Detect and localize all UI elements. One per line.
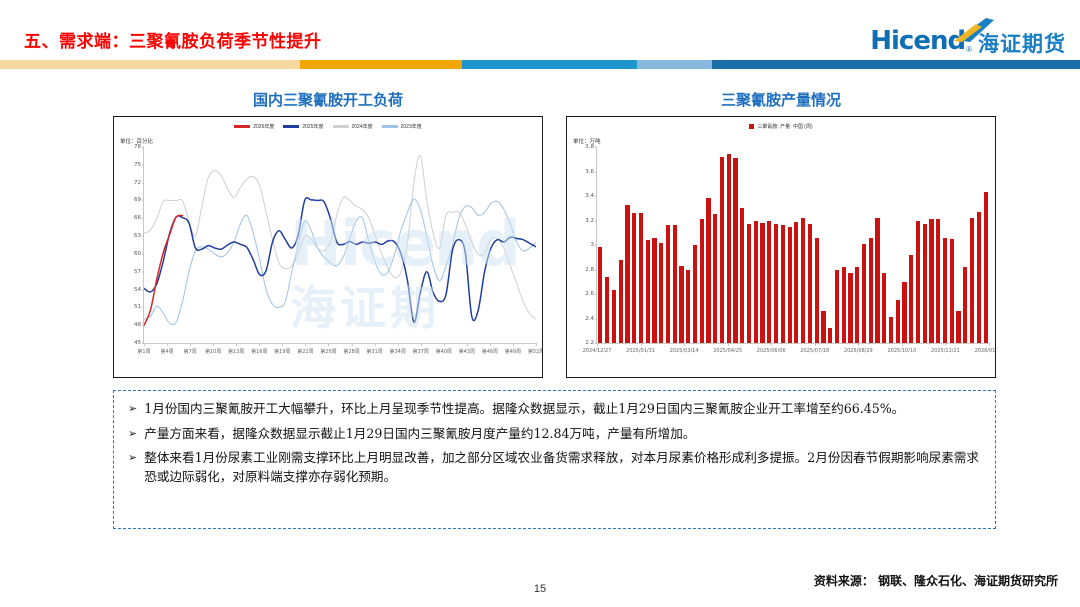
left-ytick bbox=[142, 253, 144, 254]
bar-column bbox=[740, 208, 744, 343]
legend-item-0[interactable]: 2026年度 bbox=[234, 123, 274, 130]
left-ytick-label: 69 bbox=[134, 197, 141, 203]
right-ytick-label: 3.4 bbox=[585, 193, 594, 199]
left-ytick-label: 54 bbox=[134, 287, 141, 293]
right-ytick-label: 2.8 bbox=[585, 267, 594, 273]
left-ytick bbox=[142, 289, 144, 290]
right-xtick-label: 2025/07/18 bbox=[800, 348, 829, 354]
right-ytick-label: 3.8 bbox=[585, 144, 594, 150]
right-xtick-label: 2025/06/06 bbox=[757, 348, 786, 354]
right-xtick bbox=[641, 343, 642, 346]
left-xtick bbox=[282, 343, 283, 346]
right-xtick bbox=[815, 343, 816, 346]
left-xtick-label: 第16周 bbox=[251, 348, 267, 355]
left-xtick bbox=[375, 343, 376, 346]
left-ytick-label: 72 bbox=[134, 180, 141, 186]
bar-column bbox=[720, 157, 724, 343]
left-xtick bbox=[536, 343, 537, 346]
x-axis-right bbox=[596, 343, 989, 344]
left-ytick-label: 63 bbox=[134, 233, 141, 239]
left-ytick bbox=[142, 147, 144, 148]
bar-column bbox=[767, 221, 771, 344]
bullet-text: 1月份国内三聚氰胺开工大幅攀升，环比上月呈现季节性提高。据隆众数据显示，截止1月… bbox=[144, 400, 979, 419]
bar-column bbox=[896, 300, 900, 343]
bar-column bbox=[713, 214, 717, 343]
right-ytick bbox=[595, 220, 597, 221]
left-ytick bbox=[142, 271, 144, 272]
left-xtick-label: 第31周 bbox=[366, 348, 382, 355]
left-ytick-label: 48 bbox=[134, 322, 141, 328]
left-ytick-label: 51 bbox=[134, 304, 141, 310]
left-xtick bbox=[467, 343, 468, 346]
bar-column bbox=[848, 273, 852, 343]
right-xtick-label: 2025/10/10 bbox=[887, 348, 916, 354]
bar-column bbox=[619, 260, 623, 343]
left-ytick-label: 60 bbox=[134, 251, 141, 257]
bar-column bbox=[774, 224, 778, 343]
legend-label: 2023年度 bbox=[401, 123, 422, 130]
bar-column bbox=[842, 267, 846, 343]
chart-title-left: 国内三聚氰胺开工负荷 bbox=[113, 89, 543, 110]
right-xtick bbox=[945, 343, 946, 346]
right-xtick bbox=[728, 343, 729, 346]
bar-column bbox=[686, 270, 690, 344]
left-xtick-label: 第28周 bbox=[343, 348, 359, 355]
left-ytick bbox=[142, 164, 144, 165]
left-ytick bbox=[142, 182, 144, 183]
left-xtick bbox=[444, 343, 445, 346]
left-ytick bbox=[142, 325, 144, 326]
bar-column bbox=[869, 238, 873, 343]
left-xtick-label: 第40周 bbox=[436, 348, 452, 355]
left-xtick-label: 第37周 bbox=[413, 348, 429, 355]
left-xtick bbox=[328, 343, 329, 346]
chart-legend-right: 三聚氰胺: 产量: 中国 (周) bbox=[567, 123, 995, 130]
bar-column bbox=[970, 218, 974, 343]
x-axis-left bbox=[143, 343, 536, 344]
legend-swatch bbox=[283, 125, 299, 128]
list-item: ➢ 整体来看1月份尿素工业刚需支撑环比上月明显改善，加之部分区域农业备货需求释放… bbox=[128, 449, 979, 486]
left-xtick-label: 第13周 bbox=[228, 348, 244, 355]
legend-swatch bbox=[234, 125, 250, 128]
right-xtick-label: 2025/01/31 bbox=[626, 348, 655, 354]
bar-column bbox=[855, 267, 859, 343]
left-xtick bbox=[305, 343, 306, 346]
legend-item-0[interactable]: 三聚氰胺: 产量: 中国 (周) bbox=[749, 123, 812, 130]
band-seg-1 bbox=[0, 60, 300, 69]
band-seg-3 bbox=[462, 60, 637, 69]
bar-column bbox=[950, 239, 954, 343]
left-xtick bbox=[352, 343, 353, 346]
right-xtick bbox=[902, 343, 903, 346]
right-ytick-label: 3.2 bbox=[585, 218, 594, 224]
bar-column bbox=[652, 238, 656, 343]
right-xtick bbox=[858, 343, 859, 346]
right-ytick-label: 2.6 bbox=[585, 291, 594, 297]
left-xtick bbox=[236, 343, 237, 346]
right-ytick-label: 3 bbox=[591, 242, 595, 248]
page-number: 15 bbox=[0, 583, 1080, 595]
right-xtick bbox=[684, 343, 685, 346]
left-xtick-label: 第34周 bbox=[389, 348, 405, 355]
right-ytick bbox=[595, 318, 597, 319]
right-xtick-label: 2025/08/29 bbox=[844, 348, 873, 354]
slide: 五、需求端：三聚氰胺负荷季节性提升 Hicend ® 海证期货 国内三聚氰胺开工… bbox=[0, 0, 1080, 607]
left-xtick-label: 第7周 bbox=[184, 348, 197, 355]
bar-column bbox=[639, 213, 643, 343]
bar-column bbox=[706, 198, 710, 343]
left-ytick bbox=[142, 307, 144, 308]
bar-column bbox=[902, 282, 906, 343]
left-xtick-label: 第10周 bbox=[205, 348, 221, 355]
bar-column bbox=[963, 267, 967, 343]
bar-column bbox=[815, 238, 819, 343]
left-ytick-label: 78 bbox=[134, 144, 141, 150]
chart-panel-output: 单位：万吨 三聚氰胺: 产量: 中国 (周) 2.22.42.62.833.23… bbox=[566, 116, 996, 378]
bar-column bbox=[666, 225, 670, 343]
left-ytick-label: 75 bbox=[134, 162, 141, 168]
left-xtick-label: 第19周 bbox=[274, 348, 290, 355]
legend-label: 2024年度 bbox=[352, 123, 373, 130]
bar-column bbox=[632, 213, 636, 343]
bar-column bbox=[612, 290, 616, 343]
legend-item-3[interactable]: 2023年度 bbox=[382, 123, 422, 130]
left-xtick bbox=[513, 343, 514, 346]
legend-label: 2025年度 bbox=[302, 123, 323, 130]
registered-mark-icon: ® bbox=[966, 45, 972, 54]
legend-label: 2026年度 bbox=[253, 123, 274, 130]
line-2026年度 bbox=[144, 215, 183, 325]
bar-column bbox=[875, 218, 879, 343]
left-ytick bbox=[142, 218, 144, 219]
left-ytick bbox=[142, 236, 144, 237]
bar-column bbox=[760, 223, 764, 343]
right-ytick bbox=[595, 294, 597, 295]
bar-column bbox=[605, 277, 609, 343]
line-2023年度 bbox=[144, 199, 536, 325]
right-ytick bbox=[595, 196, 597, 197]
y-axis-left bbox=[143, 147, 144, 343]
bar-column bbox=[598, 247, 602, 343]
right-ytick bbox=[595, 245, 597, 246]
legend-label: 三聚氰胺: 产量: 中国 (周) bbox=[757, 123, 812, 130]
swoosh-icon bbox=[952, 18, 994, 42]
logo-wordmark: Hicend bbox=[870, 28, 965, 54]
right-ytick bbox=[595, 147, 597, 148]
commentary-box: ➢ 1月份国内三聚氰胺开工大幅攀升，环比上月呈现季节性提高。据隆众数据显示，截止… bbox=[113, 390, 996, 529]
bar-column bbox=[929, 219, 933, 343]
left-xtick bbox=[421, 343, 422, 346]
legend-item-1[interactable]: 2025年度 bbox=[283, 123, 323, 130]
bar-column bbox=[788, 227, 792, 343]
band-seg-5 bbox=[712, 60, 1080, 69]
bar-column bbox=[754, 221, 758, 344]
bar-column bbox=[889, 317, 893, 343]
bar-column bbox=[808, 224, 812, 343]
header-color-band bbox=[0, 60, 1080, 69]
bar-column bbox=[747, 224, 751, 343]
bar-column bbox=[679, 266, 683, 343]
left-xtick bbox=[398, 343, 399, 346]
line-2025年度 bbox=[144, 198, 536, 323]
legend-swatch bbox=[749, 124, 754, 129]
legend-swatch bbox=[382, 125, 398, 128]
bar-column bbox=[801, 218, 805, 343]
left-xtick bbox=[167, 343, 168, 346]
page-title: 五、需求端：三聚氰胺负荷季节性提升 bbox=[24, 27, 322, 52]
right-ytick bbox=[595, 171, 597, 172]
left-xtick bbox=[259, 343, 260, 346]
bar-column bbox=[781, 225, 785, 343]
bar-column bbox=[700, 219, 704, 343]
left-xtick-label: 第25周 bbox=[320, 348, 336, 355]
bar-column bbox=[882, 273, 886, 343]
left-xtick bbox=[144, 343, 145, 346]
bar-column bbox=[984, 192, 988, 343]
right-xtick bbox=[989, 343, 990, 346]
bar-column bbox=[794, 222, 798, 343]
plot-area-left: 454851545760636669727578第1周第4周第7周第10周第13… bbox=[144, 147, 536, 343]
bar-column bbox=[956, 311, 960, 343]
bullet-arrow-icon: ➢ bbox=[128, 449, 137, 486]
bar-column bbox=[916, 221, 920, 344]
right-xtick-label: 2024/12/27 bbox=[583, 348, 612, 354]
right-ytick-label: 2.4 bbox=[585, 316, 594, 322]
chart-panel-loadrate: 单位：百分比 2026年度2025年度2024年度2023年度 45485154… bbox=[113, 116, 543, 378]
bar-column bbox=[936, 219, 940, 343]
bullet-text: 整体来看1月份尿素工业刚需支撑环比上月明显改善，加之部分区域农业备货需求释放，对… bbox=[144, 449, 979, 486]
bar-column bbox=[923, 224, 927, 343]
plot-area-right: 2.22.42.62.833.23.43.63.82024/12/272025/… bbox=[597, 147, 989, 343]
left-xtick bbox=[190, 343, 191, 346]
left-xtick-label: 第4周 bbox=[160, 348, 173, 355]
bar-column bbox=[646, 240, 650, 343]
right-xtick bbox=[771, 343, 772, 346]
left-xtick bbox=[213, 343, 214, 346]
right-xtick bbox=[597, 343, 598, 346]
left-xtick-label: 第1周 bbox=[137, 348, 150, 355]
band-seg-4 bbox=[637, 60, 712, 69]
right-ytick-label: 2.2 bbox=[585, 340, 594, 346]
right-ytick-label: 3.6 bbox=[585, 169, 594, 175]
bar-column bbox=[835, 270, 839, 344]
bar-column bbox=[943, 238, 947, 343]
right-xtick-label: 2025/11/21 bbox=[931, 348, 960, 354]
bar-column bbox=[909, 255, 913, 343]
line-series-group bbox=[144, 147, 536, 343]
left-ytick-label: 57 bbox=[134, 269, 141, 275]
list-item: ➢ 1月份国内三聚氰胺开工大幅攀升，环比上月呈现季节性提高。据隆众数据显示，截止… bbox=[128, 400, 979, 419]
bullet-arrow-icon: ➢ bbox=[128, 425, 137, 444]
bar-column bbox=[693, 245, 697, 343]
line-2024年度 bbox=[144, 156, 536, 320]
right-xtick-label: 2026/01/30 bbox=[975, 348, 996, 354]
chart-title-right: 三聚氰胺产量情况 bbox=[566, 89, 996, 110]
bar-column bbox=[862, 244, 866, 343]
right-ytick bbox=[595, 269, 597, 270]
bar-column bbox=[821, 311, 825, 343]
left-xtick-label: 第22周 bbox=[297, 348, 313, 355]
left-xtick-label: 第49周 bbox=[505, 348, 521, 355]
left-xtick bbox=[490, 343, 491, 346]
list-item: ➢ 产量方面来看，据隆众数据显示截止1月29日国内三聚氰胺月度产量约12.84万… bbox=[128, 425, 979, 444]
bullet-text: 产量方面来看，据隆众数据显示截止1月29日国内三聚氰胺月度产量约12.84万吨，… bbox=[144, 425, 979, 444]
bar-column bbox=[659, 243, 663, 343]
bar-column bbox=[977, 212, 981, 343]
bar-column bbox=[828, 328, 832, 343]
chart-legend-left: 2026年度2025年度2024年度2023年度 bbox=[114, 123, 542, 130]
left-ytick bbox=[142, 200, 144, 201]
bar-column bbox=[733, 158, 737, 343]
left-xtick-label: 第43周 bbox=[459, 348, 475, 355]
bar-column bbox=[673, 225, 677, 343]
right-xtick-label: 2025/04/25 bbox=[713, 348, 742, 354]
bullet-arrow-icon: ➢ bbox=[128, 400, 137, 419]
band-seg-2 bbox=[300, 60, 462, 69]
right-xtick-label: 2025/03/14 bbox=[670, 348, 699, 354]
left-ytick-label: 45 bbox=[134, 340, 141, 346]
bar-column bbox=[727, 154, 731, 343]
legend-swatch bbox=[333, 125, 349, 128]
left-xtick-label: 第46周 bbox=[482, 348, 498, 355]
bar-column bbox=[625, 205, 629, 343]
left-xtick-label: 第52周 bbox=[528, 348, 543, 355]
left-ytick-label: 66 bbox=[134, 215, 141, 221]
legend-item-2[interactable]: 2024年度 bbox=[333, 123, 373, 130]
